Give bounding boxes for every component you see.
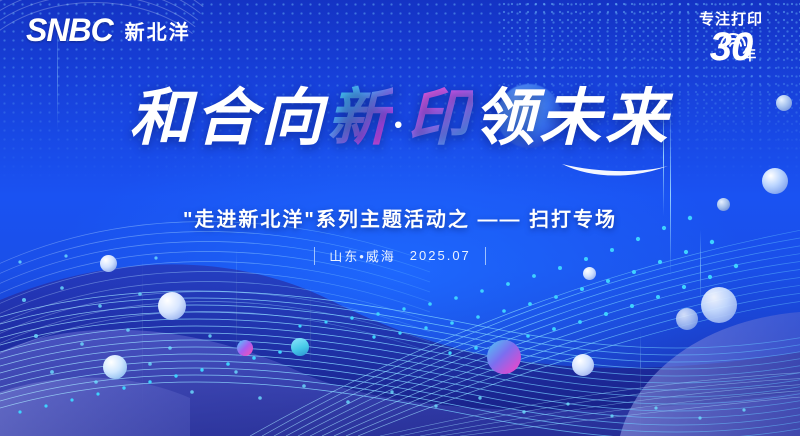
decorative-sphere (158, 292, 186, 320)
event-date: 2025.07 (410, 248, 471, 263)
event-subtitle: "走进新北洋"系列主题活动之 —— 扫打专场 (0, 203, 800, 232)
decorative-sphere (572, 354, 594, 376)
dateline-divider-left (314, 247, 315, 265)
title-part-1: 和合向 (129, 85, 327, 153)
title-separator: · (393, 102, 407, 147)
decorative-sphere-gradient (487, 340, 521, 374)
decorative-sphere (676, 308, 698, 330)
anniversary-number-group: 30 年 (710, 27, 753, 67)
title-block: 和合向新·印领未来 (0, 88, 800, 150)
dateline: 山东•威海 2025.07 (0, 246, 800, 265)
brand-name-cn: 新北洋 (125, 16, 191, 45)
event-location: 山东•威海 (329, 246, 396, 265)
event-banner: SNBC 新北洋 专注打印 30 年 和合向新·印领未来 "走进新北洋"系列主题… (0, 0, 800, 436)
snbc-logo-icon: SNBC (26, 14, 113, 46)
brand-logo[interactable]: SNBC 新北洋 (26, 14, 191, 46)
anniversary-badge: 专注打印 30 年 (678, 12, 784, 67)
page-title: 和合向新·印领未来 (129, 88, 671, 150)
decorative-sphere (103, 355, 127, 379)
anniversary-unit: 年 (742, 45, 756, 65)
decorative-sphere (583, 267, 596, 280)
decorative-sphere (762, 168, 788, 194)
decorative-sphere-gradient (237, 340, 253, 356)
calligraphy-swoosh-icon (560, 160, 670, 182)
decorative-sphere-gradient (291, 338, 309, 356)
decorative-sphere (701, 287, 737, 323)
title-part-3-gradient: 印 (407, 85, 473, 153)
title-part-2-gradient: 新 (327, 85, 393, 153)
dateline-divider-right (485, 247, 486, 265)
title-part-4: 领未来 (473, 85, 671, 153)
